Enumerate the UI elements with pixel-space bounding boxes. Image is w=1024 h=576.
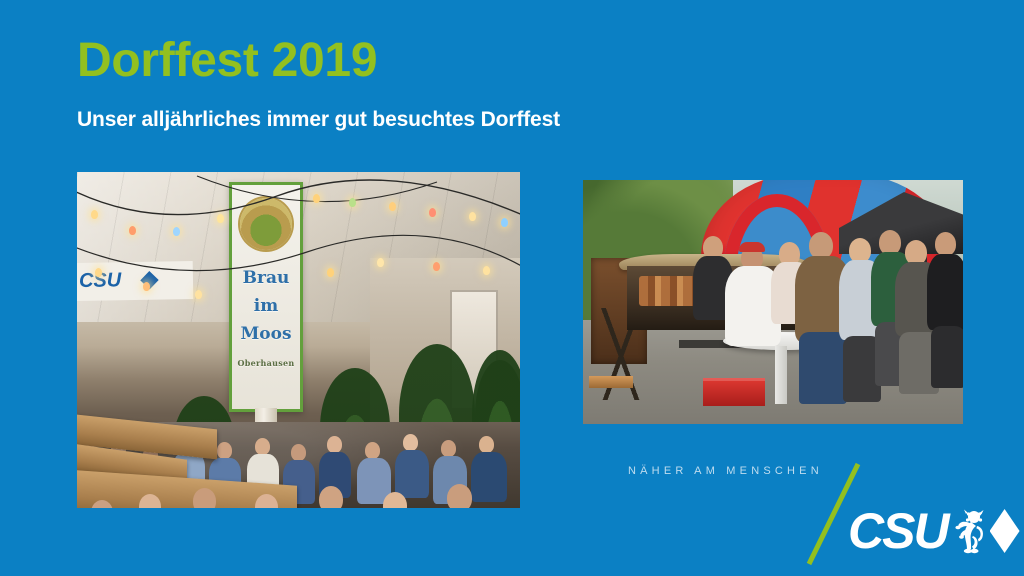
table-leg — [775, 346, 787, 404]
brand-tagline: NÄHER AM MENSCHEN — [628, 465, 823, 477]
lion-icon — [953, 508, 985, 554]
red-beverage-crate — [703, 378, 765, 406]
csu-wordmark: CSU — [848, 506, 948, 556]
beer-tent-photo: CSU Brau im Moos Oberhausen — [77, 172, 520, 508]
diamond-icon — [990, 509, 1020, 553]
beer-tent-scene: CSU Brau im Moos Oberhausen — [77, 172, 520, 508]
grill-photo — [583, 180, 963, 424]
string-light-wires — [77, 172, 520, 322]
person-legs — [931, 326, 963, 388]
person-head — [809, 232, 833, 259]
grill-scene — [583, 180, 963, 424]
csu-logo: CSU — [848, 503, 1020, 559]
cook-cap — [739, 242, 765, 252]
slide-canvas: Dorffest 2019 Unser alljährliches immer … — [0, 0, 1024, 576]
page-title: Dorffest 2019 — [77, 36, 377, 86]
wooden-stool — [589, 376, 633, 388]
tent-crowd — [77, 422, 520, 508]
person-body — [927, 254, 963, 330]
page-subtitle: Unser alljährliches immer gut besuchtes … — [77, 108, 560, 132]
vest-man-jeans — [799, 332, 847, 404]
person-head — [935, 232, 956, 256]
banner-line-3: Moos — [229, 324, 303, 344]
string-lights — [77, 172, 520, 322]
banner-line-4: Oberhausen — [229, 358, 303, 368]
